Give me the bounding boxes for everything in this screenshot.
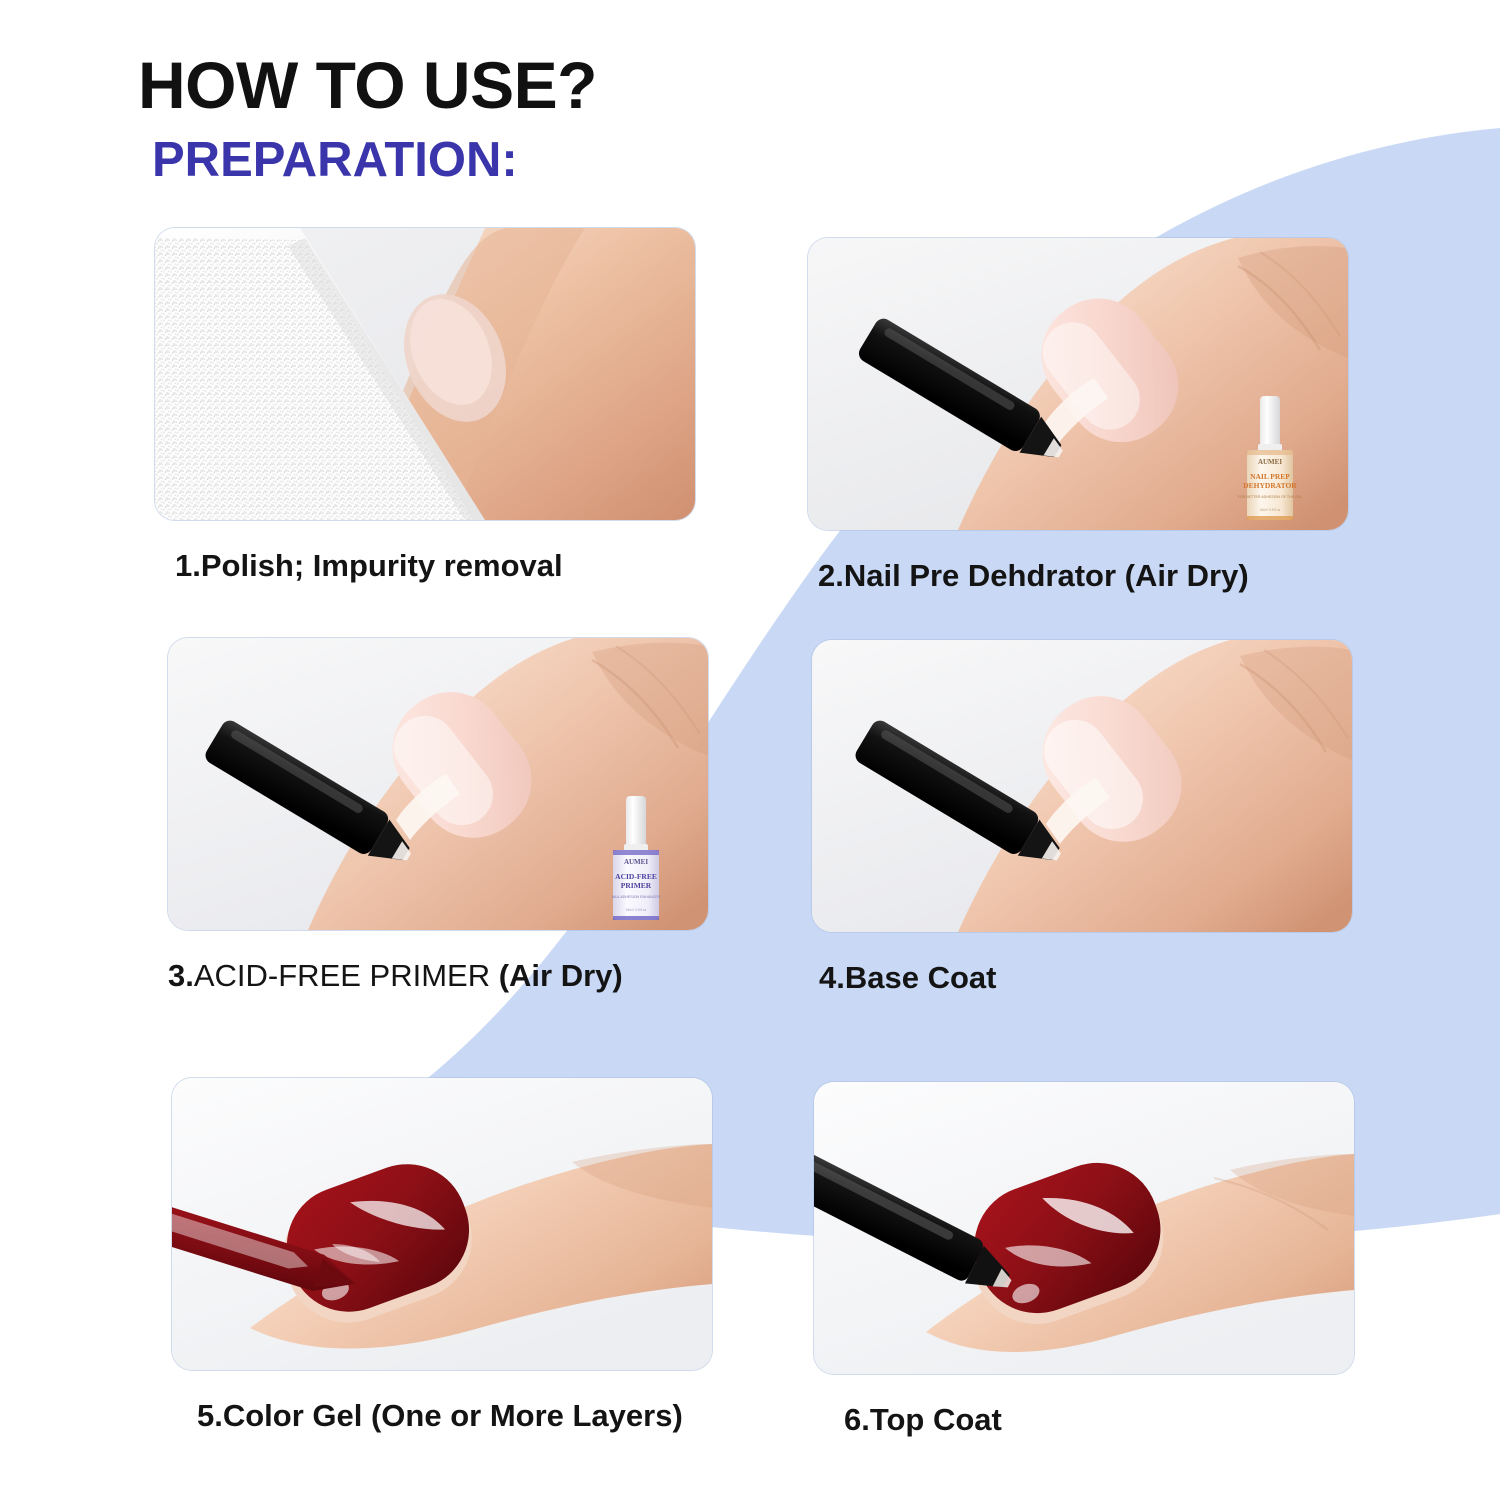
step-3: AUMEI ACID-FREE PRIMER NAIL ADHESION ENH…	[168, 638, 708, 994]
steps-grid: 1.Polish; Impurity removal	[0, 0, 1500, 1500]
step-5: 5.Color Gel (One or More Layers)	[172, 1078, 712, 1434]
step-5-caption: 5.Color Gel (One or More Layers)	[197, 1398, 712, 1434]
svg-text:NAIL PREP: NAIL PREP	[1250, 472, 1290, 481]
svg-text:15ml / 0.5 fl.oz: 15ml / 0.5 fl.oz	[1260, 508, 1281, 512]
page-title: HOW TO USE?	[138, 52, 597, 118]
page-subtitle: PREPARATION:	[152, 136, 597, 185]
step-2-caption: 2.Nail Pre Dehdrator (Air Dry)	[818, 558, 1348, 594]
step-6: 6.Top Coat	[814, 1082, 1354, 1438]
svg-text:NAIL ADHESION ENHANCER: NAIL ADHESION ENHANCER	[612, 895, 661, 899]
step-2: AUMEI NAIL PREP DEHYDRATOR FOR BETTER AD…	[808, 238, 1348, 594]
page-header: HOW TO USE? PREPARATION:	[138, 52, 597, 185]
svg-text:AUMEI: AUMEI	[1258, 458, 1282, 466]
product-bottle-acid-free-primer: AUMEI ACID-FREE PRIMER NAIL ADHESION ENH…	[600, 794, 672, 922]
step-2-photo: AUMEI NAIL PREP DEHYDRATOR FOR BETTER AD…	[808, 238, 1348, 530]
step-6-caption: 6.Top Coat	[844, 1402, 1354, 1438]
step-1-caption: 1.Polish; Impurity removal	[175, 548, 695, 584]
step-3-caption-number: 3.	[168, 958, 194, 993]
product-bottle-nail-prep-dehydrator: AUMEI NAIL PREP DEHYDRATOR FOR BETTER AD…	[1234, 394, 1306, 522]
step-4: 4.Base Coat	[812, 640, 1352, 996]
step-4-photo	[812, 640, 1352, 932]
svg-text:PRIMER: PRIMER	[621, 881, 652, 890]
step-1: 1.Polish; Impurity removal	[155, 228, 695, 584]
svg-text:15ml / 0.5 fl.oz: 15ml / 0.5 fl.oz	[626, 908, 647, 912]
svg-text:FOR BETTER ADHESION OF THE GEL: FOR BETTER ADHESION OF THE GEL	[1238, 495, 1303, 499]
step-4-caption: 4.Base Coat	[819, 960, 1352, 996]
step-3-caption: 3.ACID-FREE PRIMER (Air Dry)	[168, 958, 708, 994]
step-5-photo	[172, 1078, 712, 1370]
step-6-photo	[814, 1082, 1354, 1374]
step-3-photo: AUMEI ACID-FREE PRIMER NAIL ADHESION ENH…	[168, 638, 708, 930]
svg-text:ACID-FREE: ACID-FREE	[615, 872, 657, 881]
svg-text:DEHYDRATOR: DEHYDRATOR	[1243, 481, 1297, 490]
step-1-photo	[155, 228, 695, 520]
step-3-caption-tail: (Air Dry)	[499, 958, 623, 993]
step-3-caption-body: ACID-FREE PRIMER	[194, 958, 499, 993]
svg-text:AUMEI: AUMEI	[624, 858, 648, 866]
